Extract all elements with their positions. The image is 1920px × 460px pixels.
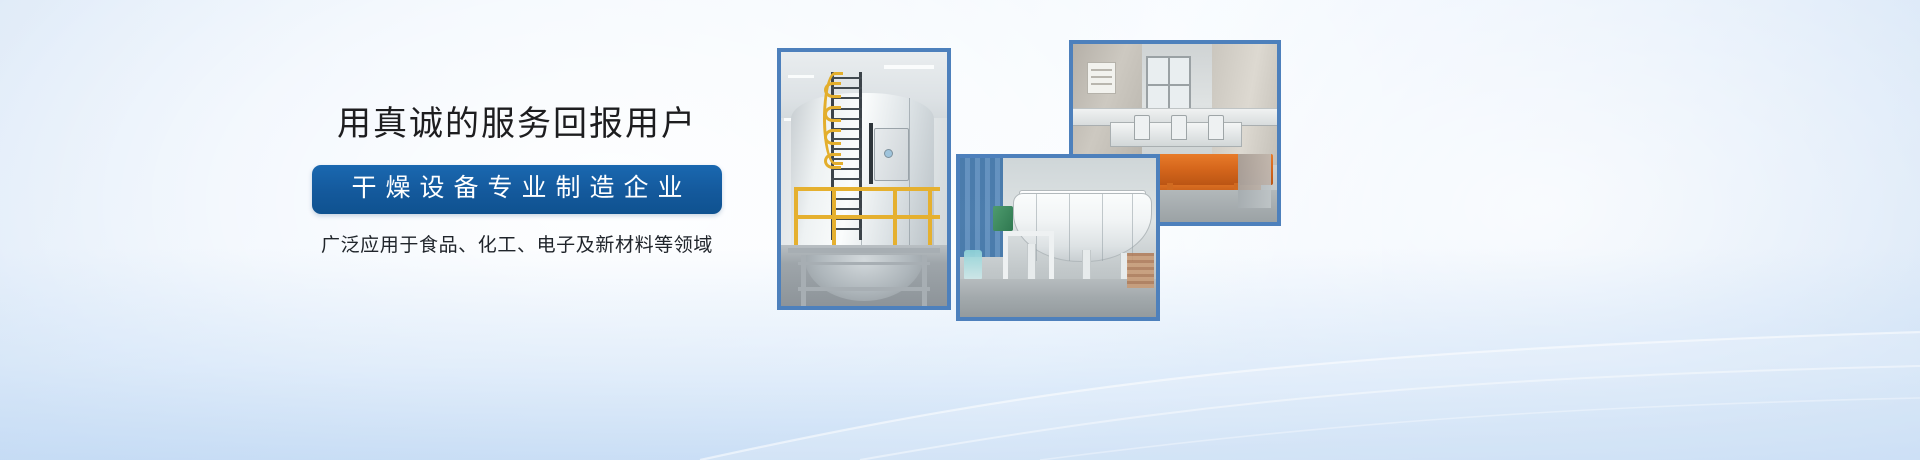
photo-ribbon-mixer-content [960,158,1156,317]
banner-headline: 用真诚的服务回报用户 [262,104,772,144]
banner-subheadline: 广泛应用于食品、化工、电子及新材料等领域 [262,234,772,259]
photo-spray-dryer-tower-content [781,52,947,306]
hall-window [1146,56,1191,113]
photo-spray-dryer-tower [777,48,951,310]
mixer-motor [993,206,1013,231]
promo-banner: 用真诚的服务回报用户 干燥设备专业制造企业 广泛应用于食品、化工、电子及新材料等… [0,0,1920,460]
wall-notice-board [1087,62,1116,94]
banner-badge-label: 干燥设备专业制造企业 [342,176,691,201]
banner-badge: 干燥设备专业制造企业 [312,165,721,214]
banner-text-column: 用真诚的服务回报用户 干燥设备专业制造企业 广泛应用于食品、化工、电子及新材料等… [262,104,772,259]
photo-ribbon-mixer [956,154,1160,321]
